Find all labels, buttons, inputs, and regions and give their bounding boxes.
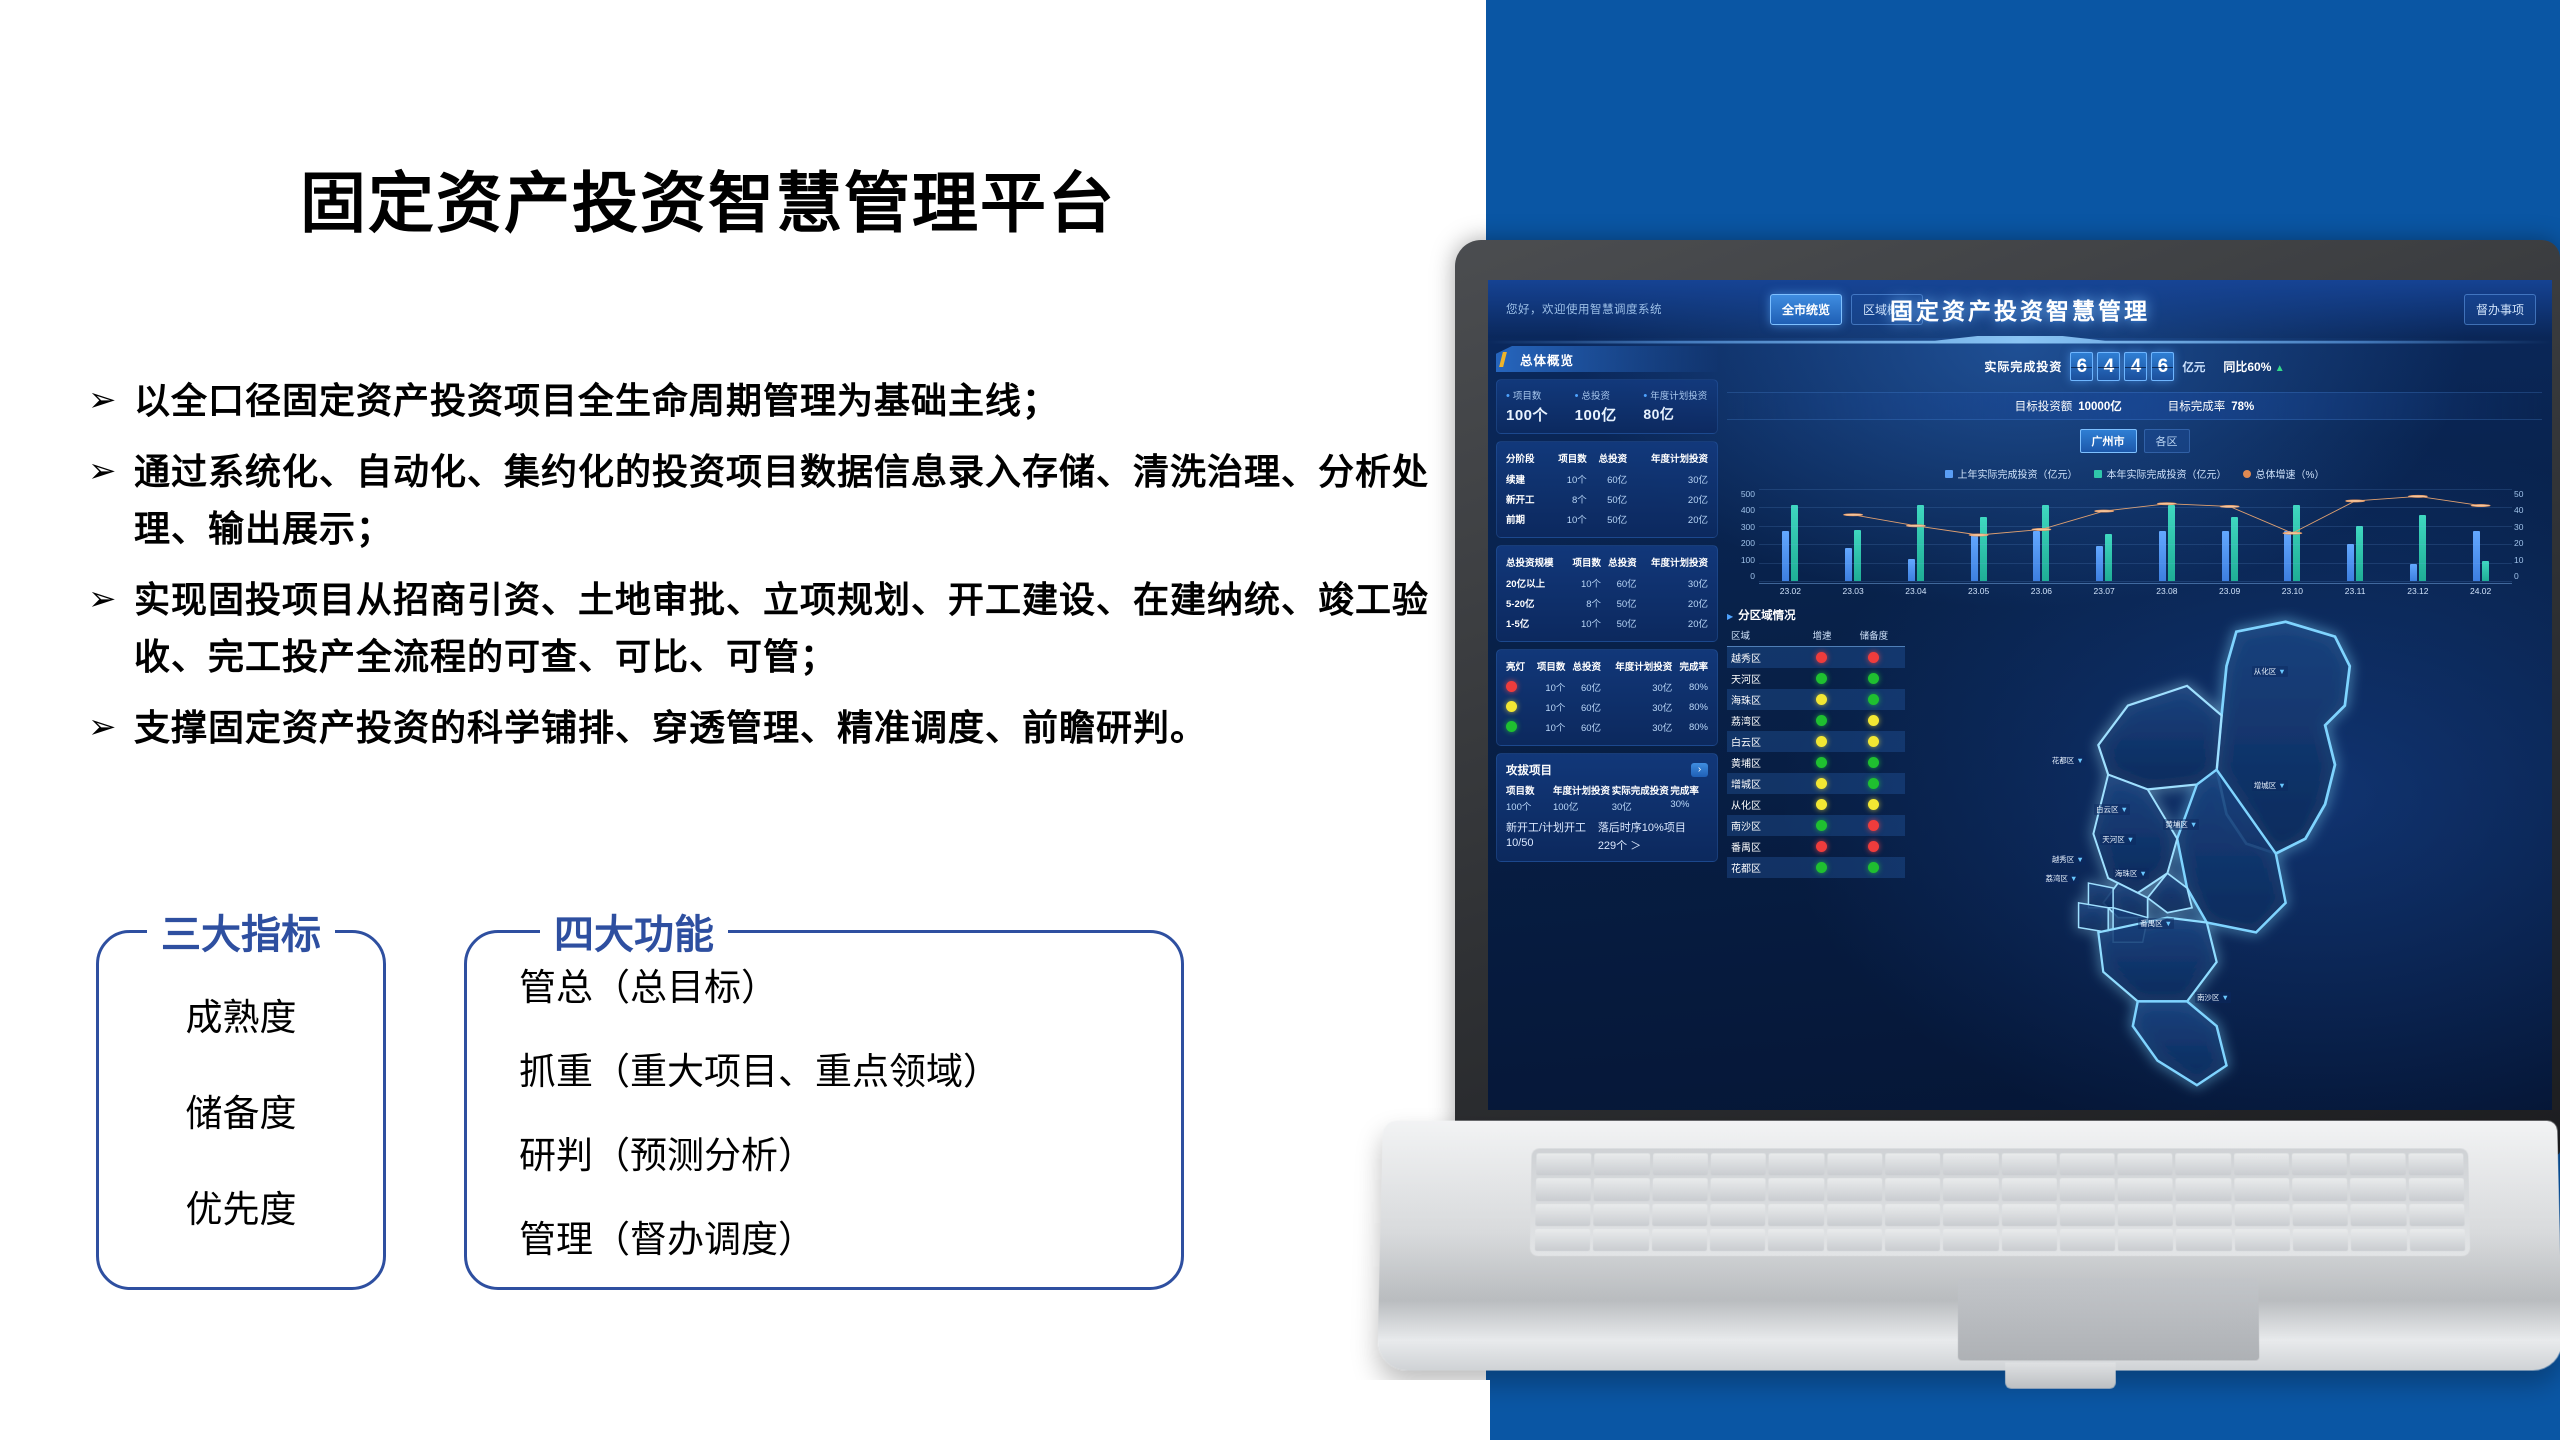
keyboard-key [1827,1178,1882,1200]
keyboard-key [2351,1204,2407,1226]
x-tick: 23.06 [2010,584,2073,597]
region-name: 从化区 [1727,794,1801,815]
cell: 80% [1672,717,1708,737]
status-light-yellow-icon [1868,715,1879,726]
reserve-status [1843,794,1905,815]
col-plan: 年度计划投资 [1637,554,1708,573]
status-light-green-icon [1816,757,1827,768]
growth-point[interactable] [2408,495,2428,497]
list-item: ➢ 通过系统化、自动化、集约化的投资项目数据信息录入存储、清洗治理、分析处理、输… [88,443,1458,557]
light-table-card: 亮灯 项目数 总投资 年度计划投资 完成率 10个 [1496,649,1718,746]
y-axis-left: 5004003002001000 [1731,489,1755,581]
scale-table-card: 总投资规模 项目数 总投资 年度计划投资 20亿以上 10个 60亿 [1496,545,1718,642]
keyboard-key [2176,1229,2232,1251]
main-content: 实际完成投资 6 4 4 6 亿元 同比60% ▲ [1727,346,2542,1100]
x-tick: 23.11 [2324,584,2387,597]
cell: 20亿以上 [1506,573,1565,593]
keyboard-key [2409,1229,2465,1251]
cell: 50亿 [1601,613,1637,633]
keyboard-key [1827,1153,1882,1175]
cell: 80% [1672,677,1708,697]
region-panel-title: 分区域情况 [1727,607,1905,623]
digit: 6 [2151,352,2174,381]
x-tick: 23.02 [1759,584,1822,597]
table-header-row: 区域 增速 储备度 [1727,628,1905,647]
light-table: 亮灯 项目数 总投资 年度计划投资 完成率 10个 [1506,658,1708,737]
keyboard-key [1593,1229,1649,1251]
target-amount-label: 目标投资额 [2015,401,2073,413]
keyboard-key [1652,1204,1707,1226]
x-tick: 24.02 [2449,584,2512,597]
legend-swatch-icon [1945,470,1953,478]
status-light-yellow-icon [1816,694,1827,705]
reserve-status [1843,857,1905,878]
keyboard-key [2350,1153,2405,1175]
keyboard-key [2176,1204,2231,1226]
map-label-天河区[interactable]: 天河区▼ [2100,834,2136,845]
cell: 1-5亿 [1506,613,1565,633]
map-outline [2079,622,2350,1085]
cell: 50亿 [1587,509,1627,529]
map-label-花都区[interactable]: 花都区▼ [2050,755,2086,766]
dashboard-header: 您好，欢迎使用智慧调度系统 全市统览 区域概览 固定资产投资智慧管理 督办事项 [1488,280,2552,338]
keyboard-key [2001,1153,2056,1175]
cell: 30亿 [1601,717,1672,737]
growth-rate-line [1759,489,2512,581]
bullet-text: 实现固投项目从招商引资、土地审批、立项规划、开工建设、在建纳统、竣工验收、完工投… [134,571,1458,685]
status-light-green-icon [1868,757,1879,768]
reserve-status [1843,731,1905,752]
y-tick-right: 50 [2514,489,2538,499]
y-tick-left: 200 [1731,538,1755,548]
tab-all-districts[interactable]: 各区 [2144,429,2190,453]
legend-item-prev-year: 上年实际完成投资（亿元） [1945,466,2078,481]
keyboard-key [1536,1178,1592,1200]
target-amount-value: 10000亿 [2078,401,2121,413]
three-indicators-box: 三大指标 成熟度 储备度 优先度 [96,930,386,1290]
region-name: 花都区 [1727,857,1801,878]
status-light-yellow-icon [1868,736,1879,747]
arrow-bullet-icon: ➢ [88,443,134,499]
function-item: 抓重（重大项目、重点领域） [519,1041,1000,1095]
map-label-番禺区[interactable]: 番禺区▼ [2138,918,2174,929]
kpi-project-count: 项目数 100个 [1506,388,1571,425]
map-label-海珠区[interactable]: 海珠区▼ [2113,868,2149,879]
growth-status [1801,773,1843,794]
col-total: 总投资 [1601,554,1637,573]
col-count: 项目数 [1530,658,1566,677]
keyboard [1530,1148,2470,1256]
district-panyu[interactable] [2098,918,2216,1002]
keyboard-key [1594,1204,1650,1226]
keyboard-key [1768,1204,1823,1226]
target-banner: 目标投资额10000亿 目标完成率78% [1727,392,2542,420]
status-light-green-icon [1868,673,1879,684]
growth-point[interactable] [2283,532,2303,534]
keyboard-key [2409,1178,2465,1200]
keyboard-key [1769,1178,1824,1200]
reserve-status [1843,773,1905,794]
kpi-summary-card: 项目数 100个 总投资 100亿 年度计划投资 [1496,379,1718,434]
trend-up-icon: ▲ [2275,363,2285,374]
grid-line [1759,563,2512,564]
function-item: 研判（预测分析） [519,1125,815,1179]
growth-status [1801,668,1843,689]
metric-label: 新开工/计划开工 [1506,819,1598,835]
growth-status [1801,794,1843,815]
cell-light [1506,677,1530,697]
map-label-越秀区[interactable]: 越秀区▼ [2050,854,2086,865]
indicator-item: 优先度 [186,1179,297,1233]
table-header-row: 亮灯 项目数 总投资 年度计划投资 完成率 [1506,658,1708,677]
digit: 4 [2097,352,2120,381]
status-light-yellow-icon [1816,778,1827,789]
chevron-right-icon[interactable]: › [1691,763,1708,777]
status-light-green-icon [1868,862,1879,873]
cell: 10个 [1565,613,1601,633]
table-row[interactable]: 海珠区 [1727,689,1905,710]
reserve-status [1843,752,1905,773]
table-row: 5-20亿 8个 50亿 20亿 [1506,593,1708,613]
table-row: 续建 10个 60亿 30亿 [1506,469,1708,489]
district-yuexiu[interactable] [2088,883,2113,908]
table-row[interactable]: 增城区 [1727,773,1905,794]
status-light-green-icon [1506,721,1517,732]
keyboard-key [1711,1153,1766,1175]
keyboard-key [2293,1204,2349,1226]
metric-value: 30% [1670,799,1708,813]
x-axis: 23.0223.0323.0423.0523.0623.0723.0823.09… [1759,583,2512,597]
cell-light [1506,697,1530,717]
white-corner-wedge [1190,1380,1490,1440]
supervision-button[interactable]: 督办事项 [2464,294,2536,325]
region-name: 海珠区 [1727,689,1801,710]
legend-item-current-year: 本年实际完成投资（亿元） [2094,466,2227,481]
metric-label: 落后时序10%项目 [1598,819,1708,835]
status-light-yellow-icon [1868,799,1879,810]
table-header-row: 分阶段 项目数 总投资 年度计划投资 [1506,450,1708,469]
status-light-green-icon [1816,673,1827,684]
region-name: 增城区 [1727,773,1801,794]
table-row[interactable]: 白云区 [1727,731,1905,752]
keyboard-key [1885,1178,1940,1200]
col-growth: 增速 [1801,628,1843,647]
growth-point[interactable] [2094,510,2114,512]
laptop-mockup: 您好，欢迎使用智慧调度系统 全市统览 区域概览 固定资产投资智慧管理 督办事项 … [1380,240,2560,1440]
cell: 8个 [1546,489,1586,509]
scale-table: 总投资规模 项目数 总投资 年度计划投资 20亿以上 10个 60亿 [1506,554,1708,633]
region-status-panel: 分区域情况 区域 增速 储备度 [1727,607,1905,1100]
lid-latch [2005,1362,2116,1388]
keyboard-key [2059,1153,2114,1175]
actual-investment-banner: 实际完成投资 6 4 4 6 亿元 同比60% ▲ [1727,346,2542,386]
region-table-body: 越秀区天河区海珠区荔湾区白云区黄埔区增城区从化区南沙区番禺区花都区 [1727,647,1905,879]
tab-guangzhou-city[interactable]: 广州市 [2080,429,2137,453]
table-row[interactable]: 黄埔区 [1727,752,1905,773]
table-row: 1-5亿 10个 50亿 20亿 [1506,613,1708,633]
col-total: 总投资 [1587,450,1627,469]
cell: 60亿 [1601,573,1637,593]
growth-point[interactable] [2345,500,2365,502]
keyboard-key [1710,1229,1766,1251]
keyboard-key [2234,1178,2289,1200]
kpi-annual-plan: 年度计划投资 80亿 [1643,388,1708,425]
keyboard-key [1885,1204,1940,1226]
x-tick: 23.07 [2073,584,2136,597]
status-light-red-icon [1816,841,1827,852]
cell: 续建 [1506,469,1546,489]
metric-value-link[interactable]: 229个 ＞ [1598,837,1708,853]
cell: 10个 [1546,509,1586,529]
growth-point[interactable] [2032,528,2052,530]
cell: 60亿 [1587,469,1627,489]
col-reserve: 储备度 [1843,628,1905,647]
table-row[interactable]: 花都区 [1727,857,1905,878]
key-projects-metrics: 项目数 年度计划投资 实际完成投资 完成率 100个 100亿 30亿 30% [1506,783,1708,813]
cell: 30亿 [1601,677,1672,697]
keyboard-key [2176,1153,2231,1175]
list-item: ➢ 实现固投项目从招商引资、土地审批、立项规划、开工建设、在建纳统、竣工验收、完… [88,571,1458,685]
map-label-增城区[interactable]: 增城区▼ [2252,780,2288,791]
list-item: ➢ 支撑固定资产投资的科学铺排、穿透管理、精准调度、前瞻研判。 [88,699,1458,756]
table-row[interactable]: 越秀区 [1727,647,1905,669]
reserve-status [1843,836,1905,857]
keyboard-key [1827,1204,1882,1226]
region-name: 天河区 [1727,668,1801,689]
three-indicators-title: 三大指标 [147,902,335,960]
growth-point[interactable] [2157,503,2177,505]
cell: 30亿 [1637,573,1708,593]
keyboard-key [1594,1178,1649,1200]
cell: 60亿 [1565,677,1601,697]
dashboard-title: 固定资产投资智慧管理 [1488,292,2552,326]
keyboard-key [1710,1178,1765,1200]
cell: 60亿 [1565,697,1601,717]
table-row: 10个 60亿 30亿 80% [1506,697,1708,717]
table-row[interactable]: 天河区 [1727,668,1905,689]
target-rate-value: 78% [2231,401,2254,413]
legend-label: 本年实际完成投资（亿元） [2107,466,2227,481]
lower-section: 分区域情况 区域 增速 储备度 [1727,607,2542,1100]
y-tick-right: 40 [2514,505,2538,515]
keyboard-key [2060,1204,2115,1226]
keyboard-key [2409,1204,2465,1226]
keyboard-key [1827,1229,1882,1251]
map-svg [1911,607,2542,1100]
growth-status [1801,710,1843,731]
region-name: 越秀区 [1727,647,1801,669]
cell: 30亿 [1601,697,1672,717]
status-light-green-icon [1816,715,1827,726]
table-row: 20亿以上 10个 60亿 30亿 [1506,573,1708,593]
keyboard-key [2118,1229,2173,1251]
keyboard-key [1710,1204,1765,1226]
table-row: 前期 10个 50亿 20亿 [1506,509,1708,529]
metric-label: 实际完成投资 [1612,783,1671,797]
col-light: 亮灯 [1506,658,1530,677]
keyboard-key [2001,1229,2056,1251]
status-light-yellow-icon [1816,799,1827,810]
function-item: 管理（督办调度） [519,1209,815,1263]
keyboard-key [1943,1229,1998,1251]
table-row[interactable]: 荔湾区 [1727,710,1905,731]
cell: 80% [1672,697,1708,717]
guangzhou-district-map: 从化区▼花都区▼增城区▼白云区▼黄埔区▼天河区▼越秀区▼海珠区▼荔湾区▼番禺区▼… [1911,607,2542,1100]
arrow-bullet-icon: ➢ [88,571,134,627]
investment-digits: 6 4 4 6 [2070,352,2174,381]
laptop-base [1377,1121,2560,1371]
cell: 30亿 [1627,469,1708,489]
target-rate-label: 目标完成率 [2168,401,2226,413]
col-plan: 年度计划投资 [1627,450,1708,469]
reserve-status [1843,647,1905,669]
chart-plot-area [1759,489,2512,581]
status-light-red-icon [1816,652,1827,663]
table-row[interactable]: 番禺区 [1727,836,1905,857]
cell: 10个 [1530,697,1566,717]
x-tick: 23.03 [1822,584,1885,597]
cell: 50亿 [1601,593,1637,613]
table-row[interactable]: 南沙区 [1727,815,1905,836]
legend-swatch-icon [2094,470,2102,478]
page-title: 固定资产投资智慧管理平台 [300,150,1116,246]
metric-label: 年度计划投资 [1553,783,1612,797]
keyboard-key [1943,1204,1998,1226]
keyboard-key [2060,1229,2115,1251]
district-liwan[interactable] [2079,903,2109,933]
trackpad [1958,1278,2259,1360]
cell: 8个 [1565,593,1601,613]
four-functions-title: 四大功能 [540,902,728,960]
status-light-red-icon [1506,681,1517,692]
keyboard-key [1943,1178,1998,1200]
cell: 10个 [1565,573,1601,593]
status-light-red-icon [1868,841,1879,852]
y-tick-left: 100 [1731,555,1755,565]
cell: 10个 [1546,469,1586,489]
status-light-green-icon [1868,778,1879,789]
keyboard-key [2060,1178,2115,1200]
x-tick: 23.12 [2387,584,2450,597]
keyboard-key [2292,1153,2347,1175]
keyboard-key [1943,1153,1998,1175]
table-row[interactable]: 从化区 [1727,794,1905,815]
bullet-text: 支撑固定资产投资的科学铺排、穿透管理、精准调度、前瞻研判。 [134,699,1207,756]
region-name: 黄埔区 [1727,752,1801,773]
district-huadu[interactable] [2098,686,2221,790]
map-label-荔湾区[interactable]: 荔湾区▼ [2044,873,2080,884]
kpi-total-investment: 总投资 100亿 [1575,388,1640,425]
section-tab-overview[interactable]: 总体概览 [1496,346,1718,372]
metric-value: 100亿 [1553,799,1612,813]
map-label-黄埔区[interactable]: 黄埔区▼ [2163,819,2199,830]
keyboard-key [2351,1229,2407,1251]
cell: 5-20亿 [1506,593,1565,613]
digit: 4 [2124,352,2147,381]
indicator-item: 储备度 [186,1083,297,1137]
list-item: ➢ 以全口径固定资产投资项目全生命周期管理为基础主线； [88,372,1458,429]
indicator-item: 成熟度 [186,987,297,1041]
grid-line [1759,544,2512,545]
y-tick-left: 500 [1731,489,1755,499]
keyboard-key [1885,1229,1940,1251]
kpi-label: 总投资 [1575,388,1640,402]
col-count: 项目数 [1546,450,1586,469]
keyboard-key [1768,1229,1823,1251]
cell: 60亿 [1565,717,1601,737]
function-item: 管总（总目标） [519,957,778,1011]
growth-point[interactable] [1843,514,1863,516]
growth-status [1801,689,1843,710]
growth-status [1801,815,1843,836]
table-row: 10个 60亿 30亿 80% [1506,717,1708,737]
actual-investment-label: 实际完成投资 [1984,358,2062,375]
keyboard-key [2350,1178,2406,1200]
status-light-green-icon [1816,820,1827,831]
map-label-从化区[interactable]: 从化区▼ [2252,666,2288,677]
keyboard-key [2001,1178,2056,1200]
keyboard-key [1885,1153,1940,1175]
digit: 6 [2070,352,2093,381]
growth-status [1801,731,1843,752]
kpi-label: 年度计划投资 [1643,388,1708,402]
keyboard-key [2235,1229,2291,1251]
keyboard-key [2001,1204,2056,1226]
col-stage: 分阶段 [1506,450,1546,469]
table-row: 10个 60亿 30亿 80% [1506,677,1708,697]
status-light-red-icon [1868,820,1879,831]
cell: 新开工 [1506,489,1546,509]
keyboard-key [2118,1153,2173,1175]
x-tick: 23.08 [2136,584,2199,597]
target-amount: 目标投资额10000亿 [2015,398,2122,414]
map-label-南沙区[interactable]: 南沙区▼ [2195,992,2231,1003]
growth-point[interactable] [1969,534,1989,536]
growth-status [1801,857,1843,878]
district-nansha[interactable] [2133,1001,2227,1085]
col-scale: 总投资规模 [1506,554,1565,573]
bullet-text: 通过系统化、自动化、集约化的投资项目数据信息录入存储、清洗治理、分析处理、输出展… [134,443,1458,557]
col-region: 区域 [1727,628,1801,647]
growth-point[interactable] [2471,504,2491,506]
keyboard-key [1769,1153,1824,1175]
legend-dot-icon [2243,470,2251,478]
keyboard-key [2118,1178,2173,1200]
x-tick: 23.04 [1885,584,1948,597]
y-tick-left: 300 [1731,522,1755,532]
kpi-value: 100个 [1506,404,1571,425]
cell: 20亿 [1627,509,1708,529]
y-tick-left: 0 [1731,571,1755,581]
metric-value: 10/50 [1506,837,1598,853]
x-tick: 23.10 [2261,584,2324,597]
growth-line-path [1853,496,2481,535]
yoy-text: 同比60% [2223,360,2271,374]
col-count: 项目数 [1565,554,1601,573]
keyboard-key [2176,1178,2231,1200]
metric-label: 项目数 [1506,783,1553,797]
region-name: 南沙区 [1727,815,1801,836]
grid-line [1759,507,2512,508]
four-functions-box: 四大功能 管总（总目标） 抓重（重大项目、重点领域） 研判（预测分析） 管理（督… [464,930,1184,1290]
y-axis-right: 50403020100 [2514,489,2538,581]
map-label-白云区[interactable]: 白云区▼ [2094,804,2130,815]
x-tick: 23.09 [2198,584,2261,597]
y-tick-right: 0 [2514,571,2538,581]
reserve-status [1843,710,1905,731]
keyboard-key [2292,1178,2347,1200]
keyboard-key [1652,1153,1707,1175]
